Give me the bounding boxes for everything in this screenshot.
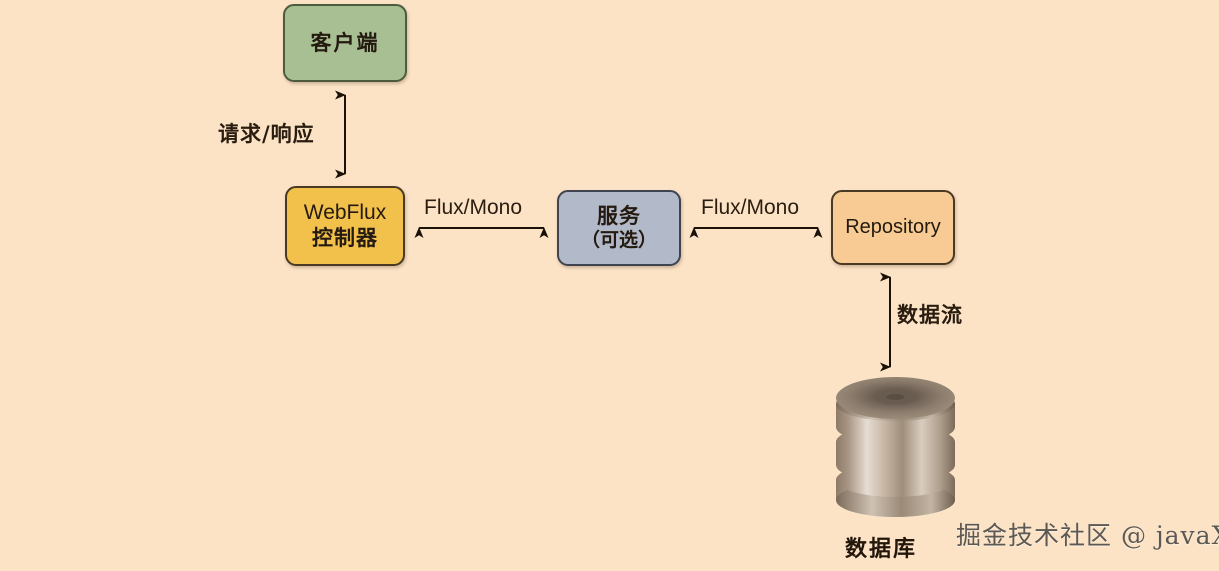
edge-label-flux-mono-controller-service: Flux/Mono (424, 196, 522, 220)
node-repository-label: Repository (845, 216, 941, 240)
edge-label-request-response: 请求/响应 (218, 118, 315, 148)
node-repository[interactable]: Repository (831, 190, 955, 265)
node-client[interactable]: 客户端 (283, 4, 407, 82)
node-webflux-controller-label-line2: 控制器 (312, 226, 378, 251)
node-service[interactable]: 服务 （可选） (557, 190, 681, 266)
node-webflux-controller[interactable]: WebFlux 控制器 (285, 186, 405, 266)
node-webflux-controller-label-line1: WebFlux (304, 201, 386, 226)
edge-label-flux-mono-service-repository: Flux/Mono (701, 196, 799, 220)
watermark-text: 掘金技术社区 @ javaX (956, 516, 1219, 552)
arrow-layer (0, 0, 1219, 571)
node-service-label-line1: 服务 (597, 204, 641, 229)
node-database-label: 数据库 (845, 531, 917, 563)
node-client-label: 客户端 (311, 31, 380, 56)
node-service-label-line2: （可选） (581, 229, 657, 251)
diagram-canvas: 客户端 WebFlux 控制器 服务 （可选） Repository (0, 0, 1219, 571)
db-disc-top (836, 377, 955, 444)
edge-label-data-flow: 数据流 (897, 299, 963, 329)
node-database-cylinder[interactable] (834, 368, 957, 520)
